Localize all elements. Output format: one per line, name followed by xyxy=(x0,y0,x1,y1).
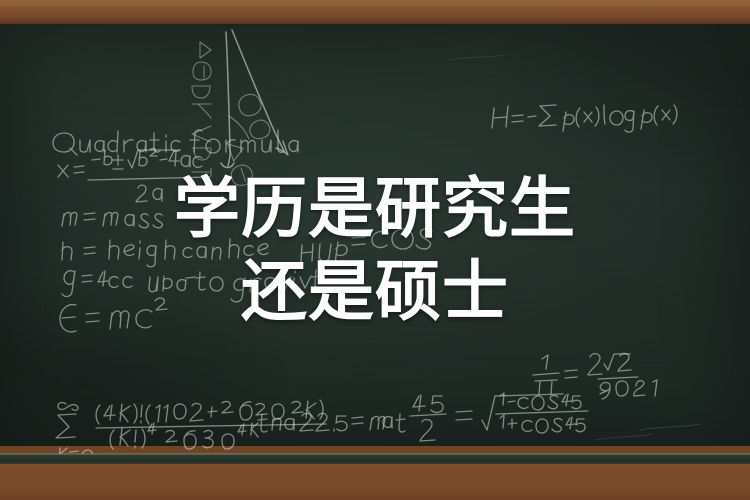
chalk-ledge-highlight xyxy=(0,453,750,455)
chalkboard-surface xyxy=(0,22,750,446)
poster-canvas: 学历是研究生 还是硕士 xyxy=(0,0,750,500)
frame-bottom xyxy=(0,464,750,500)
chalk-ledge xyxy=(0,454,750,464)
frame-top-highlight xyxy=(0,0,750,7)
